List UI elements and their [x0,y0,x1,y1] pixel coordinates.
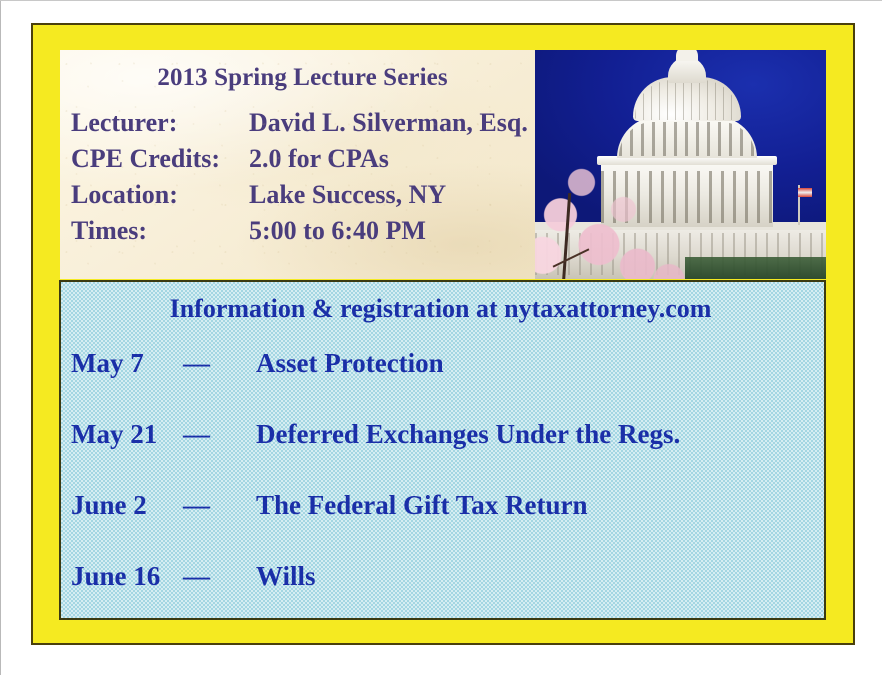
page-left-rule [0,0,1,675]
session-topic: Wills [256,561,816,592]
capitol-cupola [676,50,698,61]
session-dash-icon: — [183,490,256,521]
session-date: May 7 [71,348,183,379]
detail-label-times: Times: [71,216,249,246]
session-date: June 2 [71,490,183,521]
page-title: 2013 Spring Lecture Series [60,64,535,92]
detail-value-cpe-credits: 2.0 for CPAs [249,144,535,174]
session-topic: The Federal Gift Tax Return [256,490,816,521]
capitol-photo [535,50,826,279]
detail-label-location: Location: [71,180,249,210]
lecture-series-flyer: 2013 Spring Lecture Series Lecturer: Dav… [31,23,855,645]
page-top-rule [0,0,882,1]
detail-row-location: Location: Lake Success, NY [71,180,535,216]
capitol-dome-ribs [635,80,739,120]
flyer-header-row: 2013 Spring Lecture Series Lecturer: Dav… [60,50,826,279]
schedule-panel: Information & registration at nytaxattor… [59,280,826,620]
session-dash-icon: — [183,348,256,379]
detail-row-times: Times: 5:00 to 6:40 PM [71,216,535,252]
us-flag-icon [798,188,812,197]
session-date: May 21 [71,419,183,450]
session-row-4: June 16 — Wills [71,561,816,620]
session-topic: Deferred Exchanges Under the Regs. [256,419,816,450]
lecture-detail-list: Lecturer: David L. Silverman, Esq. CPE C… [71,108,535,252]
detail-row-cpe-credits: CPE Credits: 2.0 for CPAs [71,144,535,180]
detail-label-lecturer: Lecturer: [71,108,249,138]
session-date: June 16 [71,561,183,592]
tree-branch [553,248,590,267]
page-canvas: 2013 Spring Lecture Series Lecturer: Dav… [0,0,882,675]
hedge-row [685,257,826,279]
session-row-3: June 2 — The Federal Gift Tax Return [71,490,816,561]
session-list: May 7 — Asset Protection May 21 — Deferr… [71,348,816,620]
session-topic: Asset Protection [256,348,816,379]
registration-link[interactable]: Information & registration at nytaxattor… [61,294,824,324]
session-row-2: May 21 — Deferred Exchanges Under the Re… [71,419,816,490]
detail-label-cpe-credits: CPE Credits: [71,144,249,174]
lecture-info-card: 2013 Spring Lecture Series Lecturer: Dav… [60,50,535,279]
detail-row-lecturer: Lecturer: David L. Silverman, Esq. [71,108,535,144]
session-row-1: May 7 — Asset Protection [71,348,816,419]
session-dash-icon: — [183,561,256,592]
detail-value-location: Lake Success, NY [249,180,535,210]
cherry-blossom-tree [535,150,704,279]
session-dash-icon: — [183,419,256,450]
detail-value-lecturer: David L. Silverman, Esq. [249,108,535,138]
detail-value-times: 5:00 to 6:40 PM [249,216,535,246]
tree-trunk [562,193,571,279]
